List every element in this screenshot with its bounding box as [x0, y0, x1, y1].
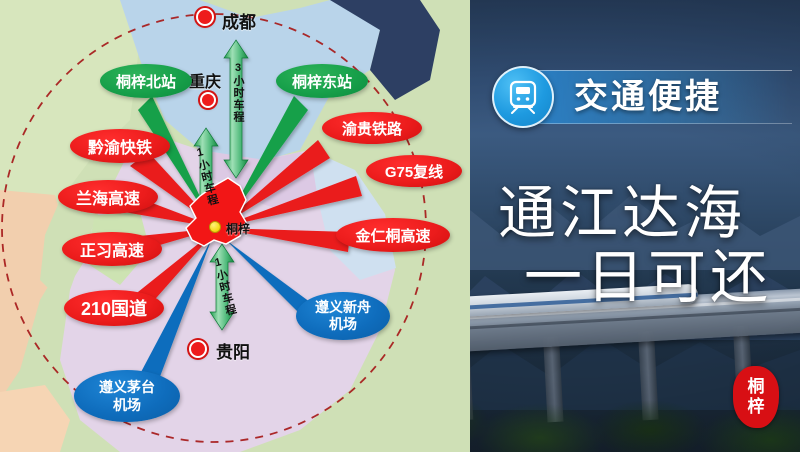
callout-label: 黔渝快铁	[88, 134, 152, 158]
seal-char-2: 梓	[748, 397, 765, 417]
callout-label: 桐梓东站	[292, 71, 352, 92]
slide-slogan: 通江达海 一日可还	[498, 182, 794, 310]
callout-label-line2: 机场	[329, 316, 357, 333]
train-icon	[492, 66, 554, 128]
callout-label: 兰海高速	[76, 185, 140, 209]
transport-map: 桐梓 成都 重庆 贵阳 3小时车程 1小时车程 1小时车程 桐梓北站 桐梓东站 …	[0, 0, 470, 452]
slide-canvas: 桐梓 成都 重庆 贵阳 3小时车程 1小时车程 1小时车程 桐梓北站 桐梓东站 …	[0, 0, 800, 452]
callout-yugui-railway[interactable]: 渝贵铁路	[322, 112, 422, 144]
slogan-line-1: 通江达海	[498, 182, 794, 246]
callout-label: 渝贵铁路	[342, 118, 402, 139]
callout-lanhai-expressway[interactable]: 兰海高速	[58, 180, 158, 214]
callout-tongzi-north-station[interactable]: 桐梓北站	[100, 64, 192, 98]
city-label-chongqing: 重庆	[189, 68, 221, 92]
callout-tongzi-east-station[interactable]: 桐梓东站	[276, 64, 368, 98]
callout-zunyi-xinzhou-airport[interactable]: 遵义新舟 机场	[296, 292, 390, 340]
seal-text: 桐 梓	[733, 366, 779, 428]
city-label-chengdu: 成都	[222, 8, 256, 33]
callout-label: G75复线	[385, 161, 443, 182]
callout-label-line1: 遵义新舟	[315, 299, 371, 316]
callout-label: 正习高速	[80, 237, 144, 261]
callout-g75-duplicate-line[interactable]: G75复线	[366, 155, 462, 187]
city-dot-chengdu	[196, 8, 214, 26]
section-header-badge: 交通便捷	[492, 66, 792, 128]
hub-dot-icon	[209, 221, 221, 233]
callout-label: 桐梓北站	[116, 71, 176, 92]
slogan-line-2: 一日可还	[524, 246, 794, 310]
callout-qianyu-express-rail[interactable]: 黔渝快铁	[70, 129, 170, 163]
callout-g210-national-road[interactable]: 210国道	[64, 290, 164, 326]
callout-label: 210国道	[81, 295, 147, 321]
city-dot-chongqing	[200, 92, 216, 108]
badge-title: 交通便捷	[574, 73, 722, 121]
hub-label: 桐梓	[226, 220, 250, 237]
seal-char-1: 桐	[748, 377, 765, 397]
callout-label: 金仁桐高速	[355, 225, 430, 246]
tongzi-seal-logo: 桐 梓	[733, 366, 779, 428]
callout-zhengxi-expressway[interactable]: 正习高速	[62, 232, 162, 266]
city-dot-guiyang	[189, 340, 207, 358]
callout-label-line2: 机场	[113, 396, 141, 414]
callout-jinrentong-expressway[interactable]: 金仁桐高速	[336, 218, 450, 252]
city-label-guiyang: 贵阳	[216, 338, 250, 363]
callout-label-line1: 遵义茅台	[99, 378, 155, 396]
callout-zunyi-maotai-airport[interactable]: 遵义茅台 机场	[74, 370, 180, 422]
drive-time-label-chengdu: 3小时车程	[230, 62, 246, 123]
